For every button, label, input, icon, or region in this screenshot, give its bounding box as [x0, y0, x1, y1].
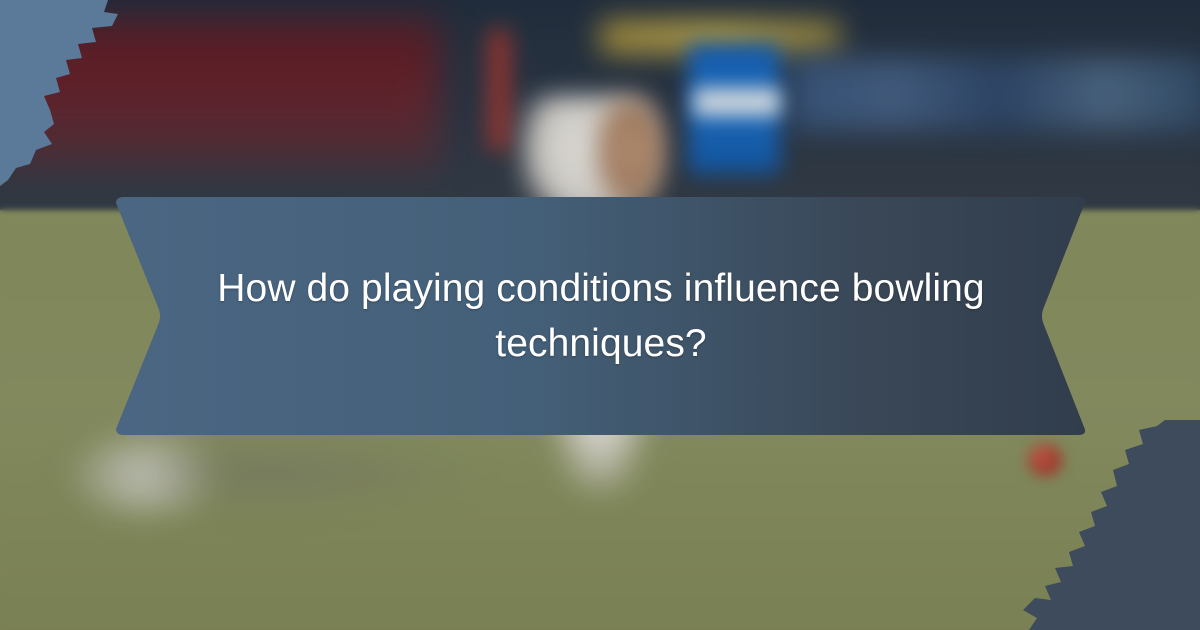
- share-card: How do playing conditions influence bowl…: [0, 0, 1200, 630]
- headline-text-container: How do playing conditions influence bowl…: [108, 195, 1094, 437]
- page-title: How do playing conditions influence bowl…: [188, 261, 1014, 372]
